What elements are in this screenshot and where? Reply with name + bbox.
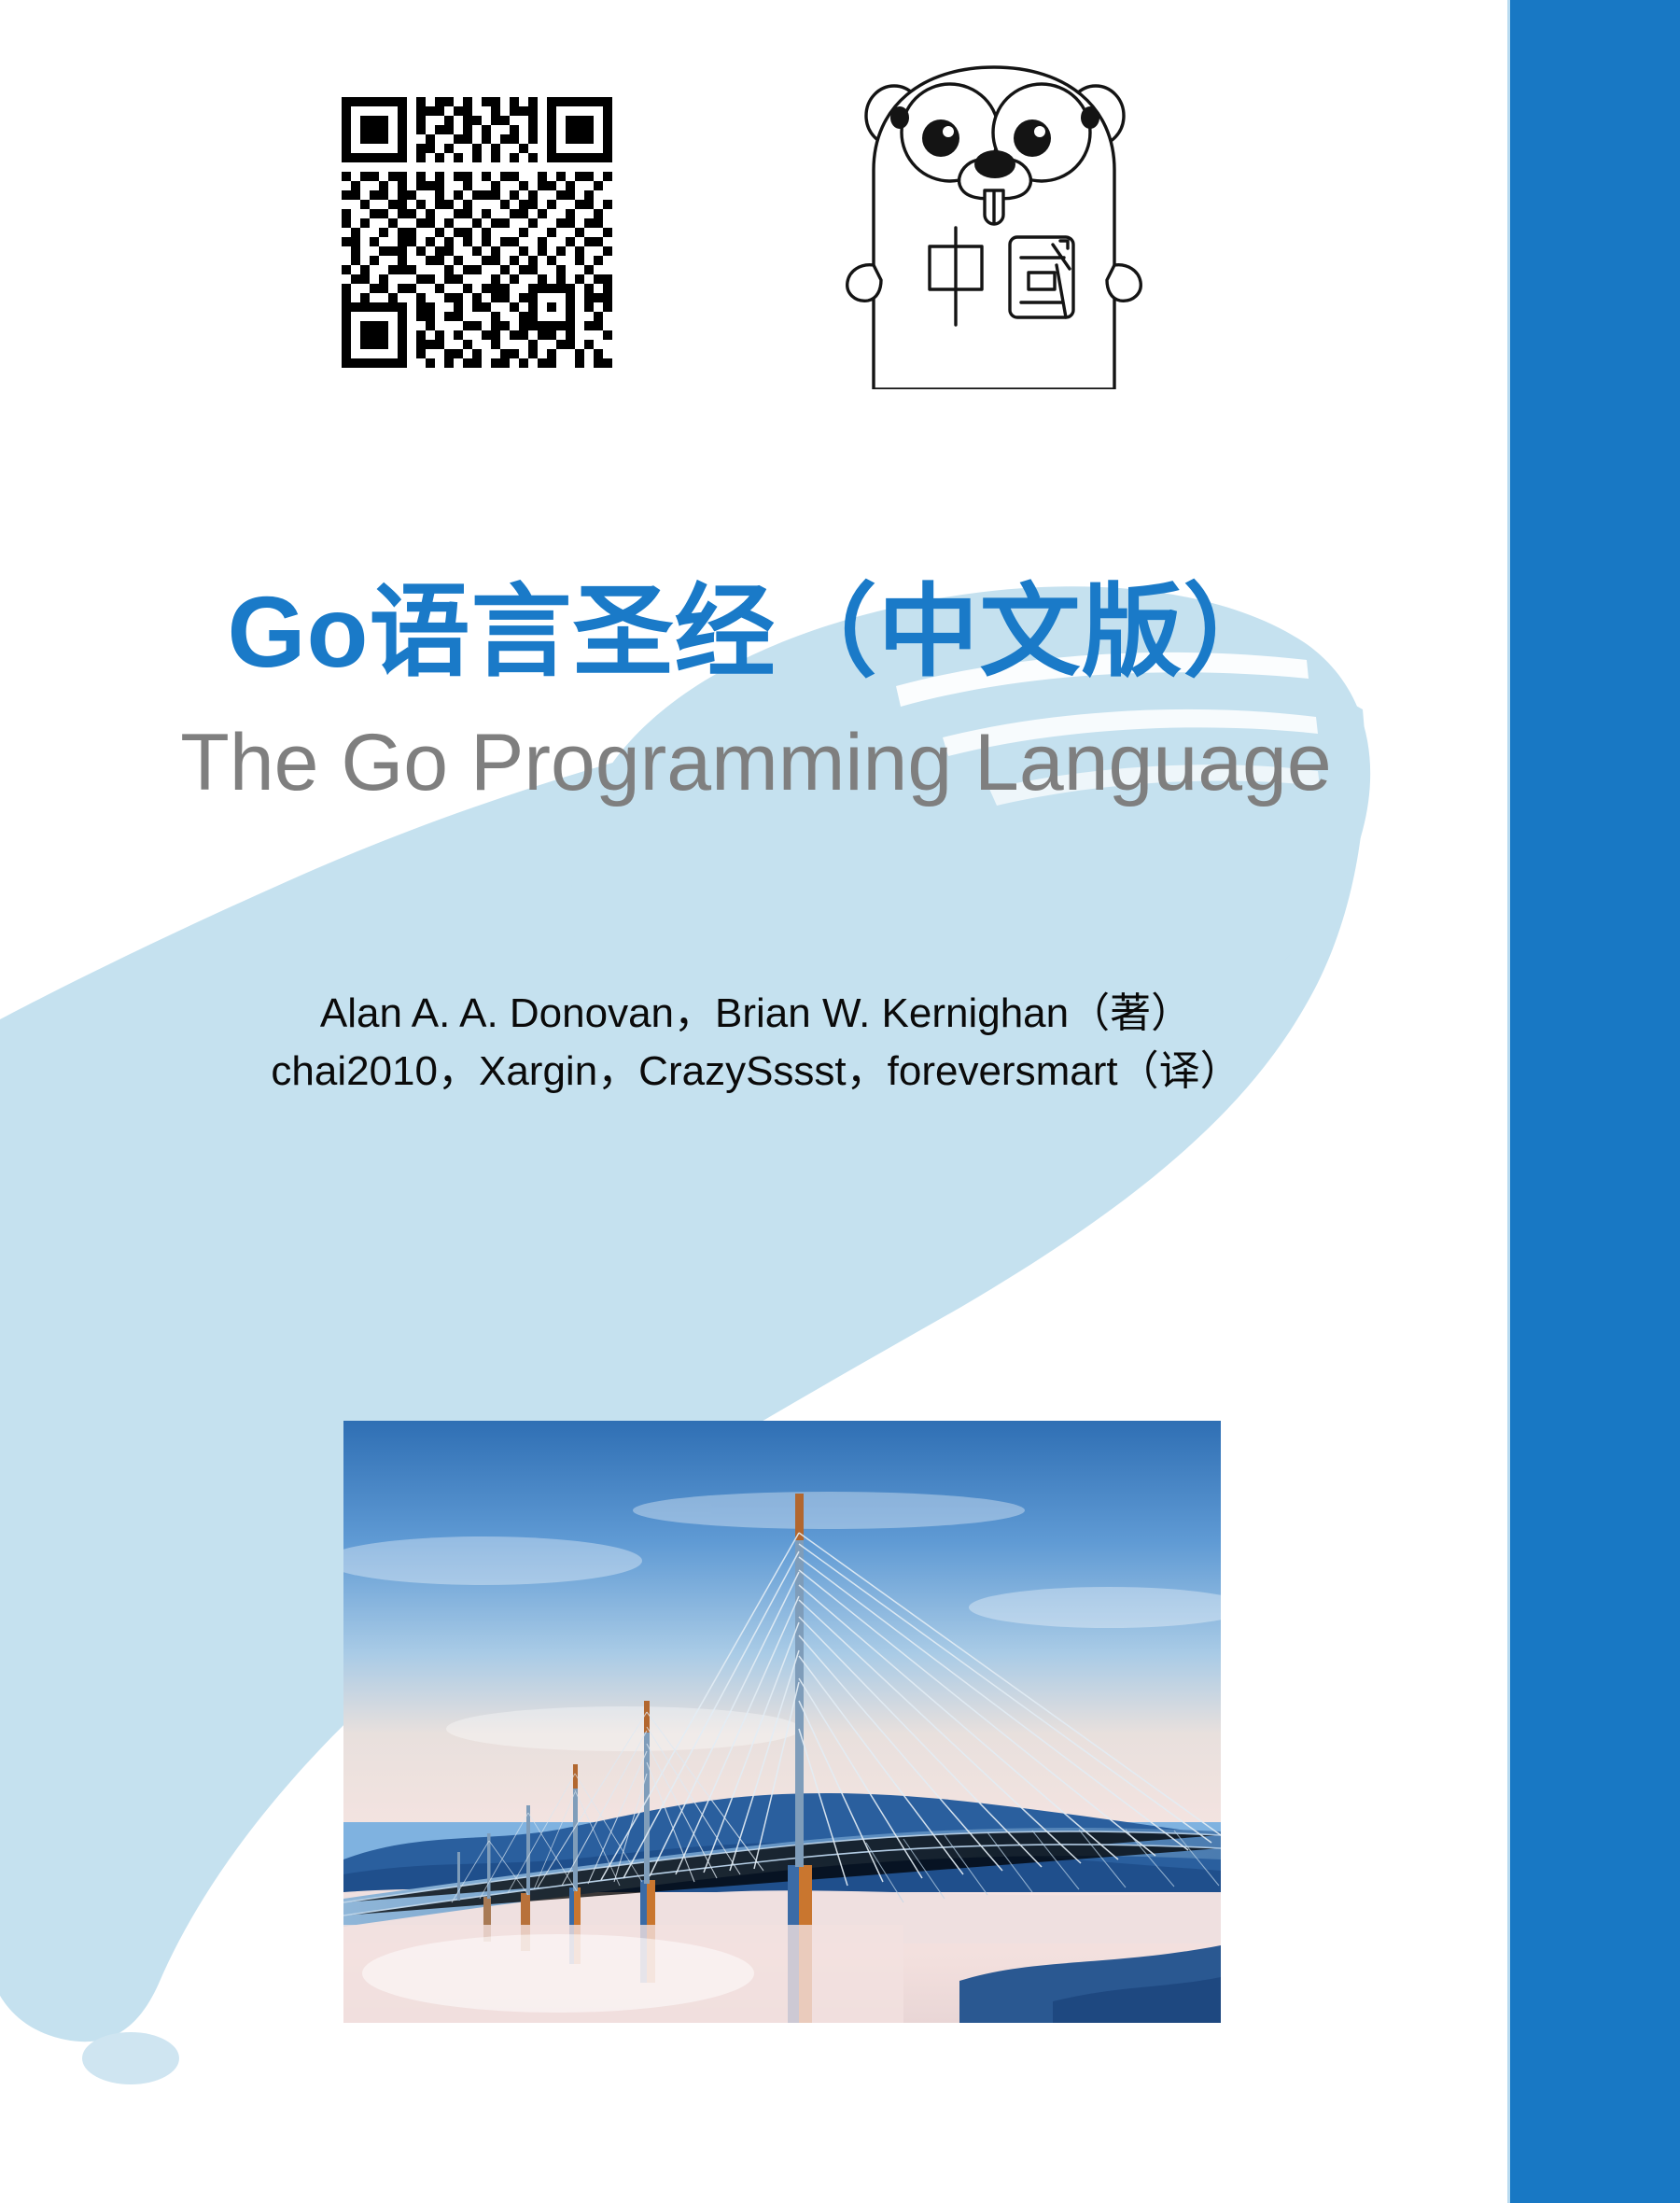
book-cover: Go语言圣经（中文版） The Go Programming Language … <box>0 0 1680 2203</box>
millau-viaduct-bridge-photo <box>343 1421 1221 2023</box>
authors-block: Alan A. A. Donovan，Brian W. Kernighan（著）… <box>0 985 1512 1101</box>
book-title-english: The Go Programming Language <box>0 721 1512 805</box>
book-title-chinese: Go语言圣经（中文版） <box>0 579 1512 684</box>
go-gopher-mascot <box>840 49 1148 389</box>
sidebar-github-banner: http://github.com/golang-china/gopl-zh <box>1510 0 1680 2203</box>
authors-line-translators: chai2010，Xargin，CrazySssst，foreversmart（… <box>0 1043 1512 1101</box>
authors-line-original: Alan A. A. Donovan，Brian W. Kernighan（著） <box>0 985 1512 1043</box>
qr-code-icon <box>329 97 625 368</box>
